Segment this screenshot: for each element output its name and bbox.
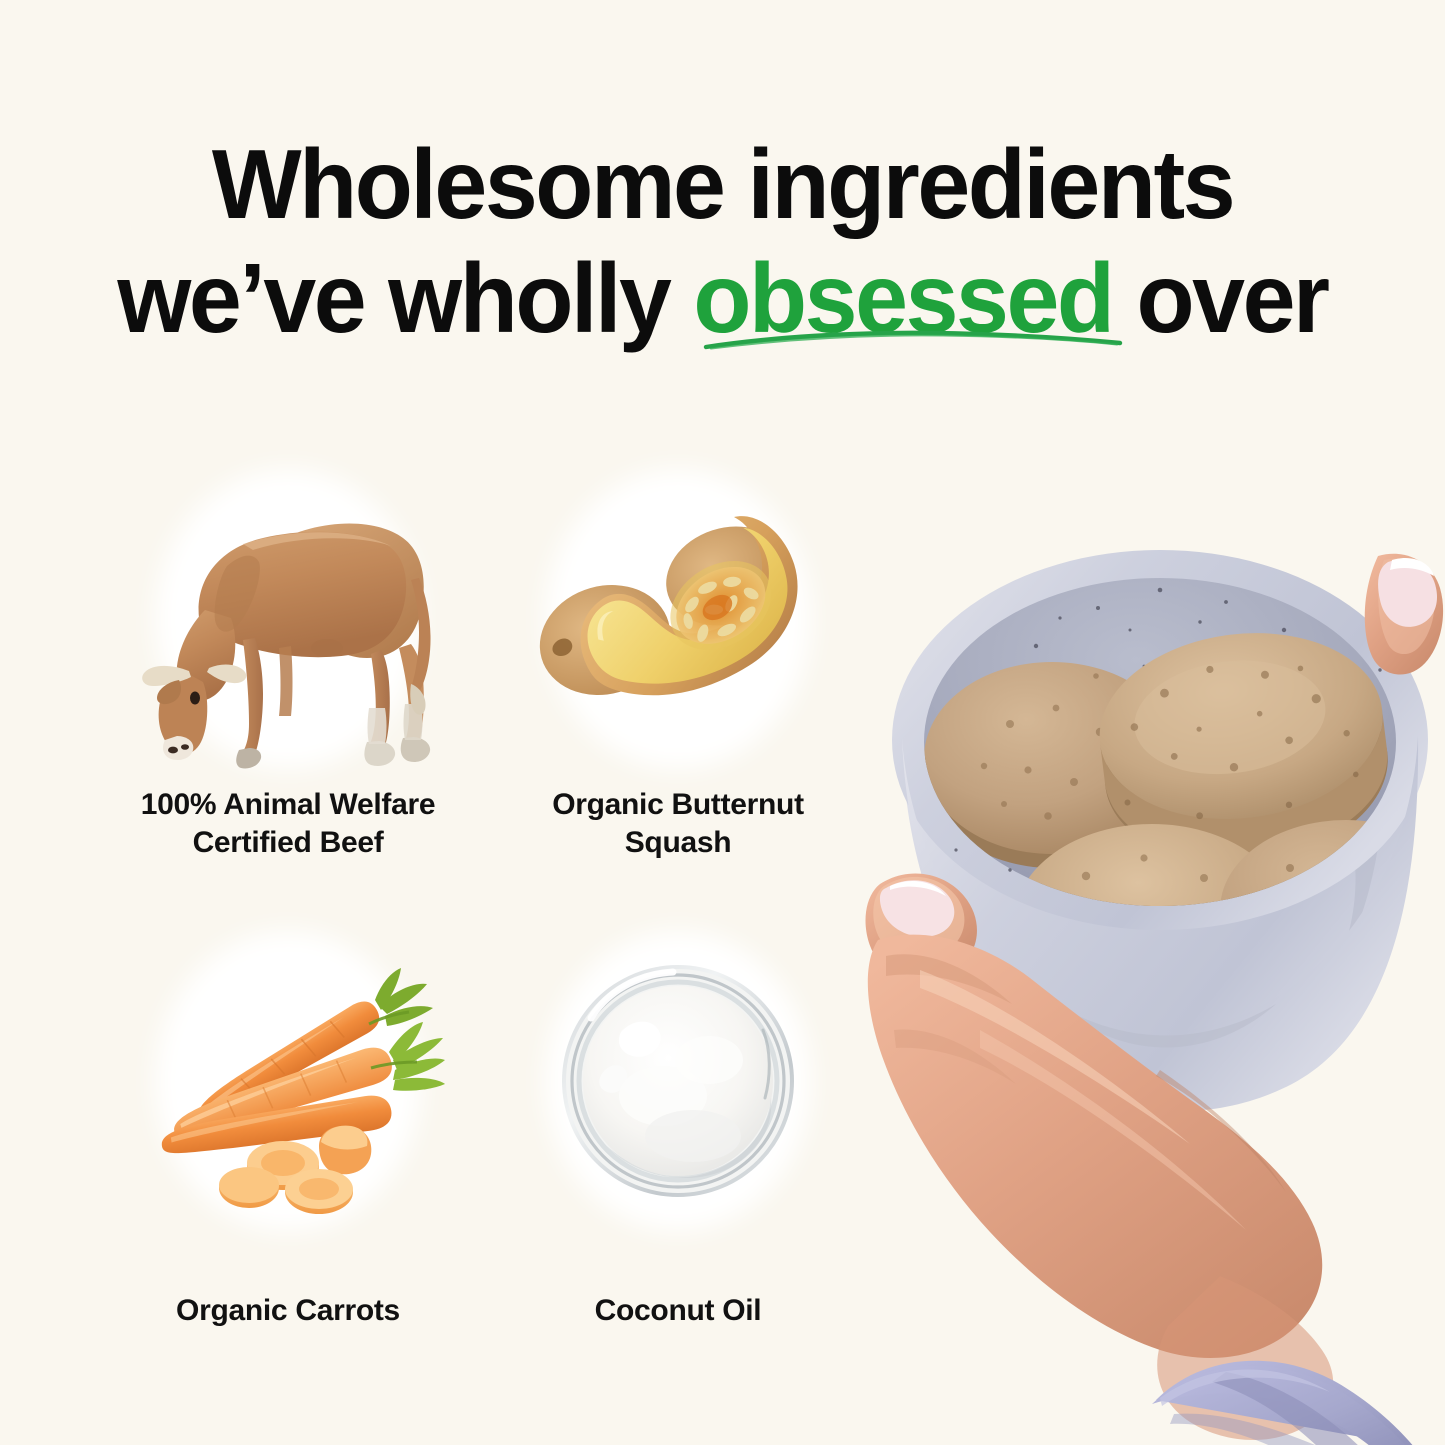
ingredient-label: 100% Animal Welfare Certified Beef <box>118 786 458 863</box>
butternut-squash-icon <box>513 458 843 780</box>
ingredient-thumb <box>513 458 843 780</box>
ingredient-label-line-1: Coconut Oil <box>595 1294 762 1327</box>
headline-line-1: Wholesome ingredients <box>22 128 1424 242</box>
carrots-icon <box>123 920 453 1242</box>
ingredient-label: Coconut Oil <box>508 1292 848 1330</box>
promo-graphic: Wholesome ingredients we’ve wholly obses… <box>0 0 1445 1445</box>
ingredient-label-line-1: Organic Butternut <box>552 788 804 821</box>
hand-holding-bowl-photo <box>860 470 1445 1445</box>
headline-line-2: we’ve wholly obsessed over <box>22 242 1424 356</box>
ingredient-label-line-1: Organic Carrots <box>176 1294 400 1327</box>
ingredient-label-line-2: Squash <box>625 826 732 859</box>
ingredient-label-line-1: 100% Animal Welfare <box>141 788 435 821</box>
ingredients-grid: 100% Animal Welfare Certified Beef <box>118 458 878 1338</box>
ingredient-thumb <box>123 458 453 780</box>
ingredient-label: Organic Carrots <box>118 1292 458 1330</box>
ingredient-item-butternut-squash: Organic Butternut Squash <box>508 458 848 863</box>
ingredient-item-carrots: Organic Carrots <box>118 920 458 1330</box>
headline-text-after: over <box>1113 243 1328 353</box>
coconut-oil-jar-icon <box>513 920 843 1242</box>
grazing-cow-icon <box>123 458 453 780</box>
headline-highlight-word: obsessed <box>693 242 1112 356</box>
ingredient-item-beef: 100% Animal Welfare Certified Beef <box>118 458 458 863</box>
headline-text-before: we’ve wholly <box>117 243 693 353</box>
top-finger <box>1365 554 1443 675</box>
page-title: Wholesome ingredients we’ve wholly obses… <box>22 128 1424 355</box>
ingredient-thumb <box>513 920 843 1242</box>
ingredient-label: Organic Butternut Squash <box>508 786 848 863</box>
ingredient-item-coconut-oil: Coconut Oil <box>508 920 848 1330</box>
ingredient-label-line-2: Certified Beef <box>193 826 384 859</box>
ingredient-thumb <box>123 920 453 1242</box>
